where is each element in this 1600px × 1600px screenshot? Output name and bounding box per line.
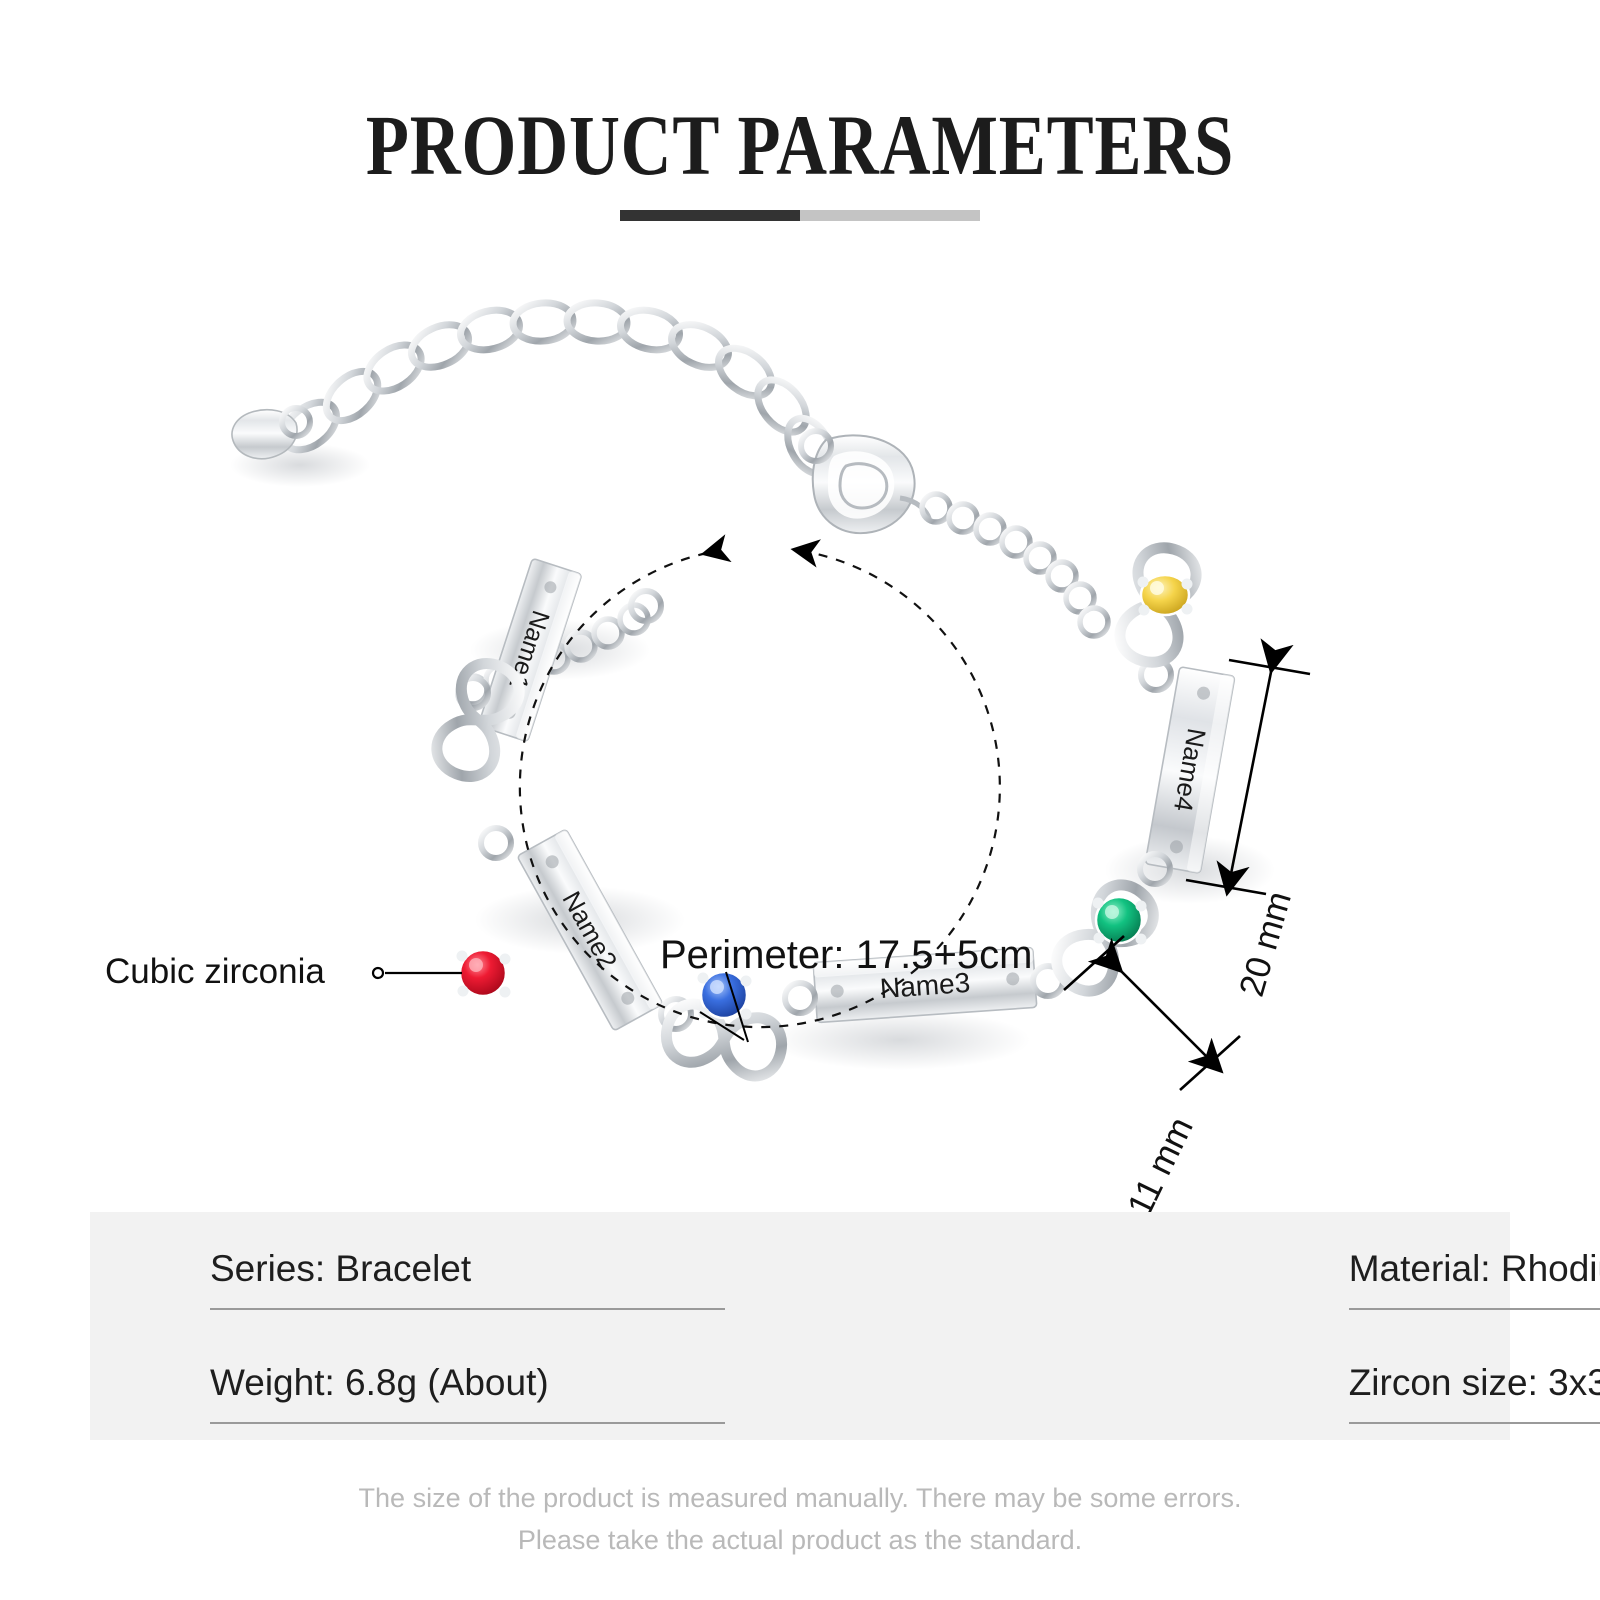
red-gem — [457, 950, 511, 998]
blue-gem — [698, 972, 752, 1020]
lobster-clasp — [801, 431, 930, 533]
spec-item-zircon-size: Zircon size: 3x3mm — [549, 1326, 1600, 1440]
spec-series-text: Series: Bracelet — [210, 1248, 471, 1290]
spec-material-text: Material: Rhodium Plated — [1349, 1248, 1600, 1290]
cubic-zirconia-label: Cubic zirconia — [105, 952, 325, 992]
cubic-zirconia-leader — [373, 968, 462, 978]
bracelet-illustration: Name1 Name2 Nam — [0, 250, 1600, 1210]
cable-chain-right — [922, 494, 1108, 636]
spec-underline — [1349, 1308, 1600, 1310]
jump-ring — [481, 828, 511, 858]
header: PRODUCT PARAMETERS — [0, 0, 1600, 250]
disclaimer-line-2: Please take the actual product as the st… — [0, 1520, 1600, 1562]
page-title: PRODUCT PARAMETERS — [144, 95, 1456, 195]
green-gem — [1093, 897, 1147, 945]
jump-ring — [785, 983, 815, 1013]
yellow-gem — [1138, 575, 1193, 616]
perimeter-label: Perimeter: 17.5+5cm — [660, 933, 1032, 978]
disclaimer-line-1: The size of the product is measured manu… — [0, 1478, 1600, 1520]
spec-weight-text: Weight: 6.8g (About) — [210, 1362, 549, 1404]
divider-light-segment — [800, 210, 980, 221]
disclaimer: The size of the product is measured manu… — [0, 1478, 1600, 1562]
title-divider — [620, 210, 980, 221]
spec-panel: Series: Bracelet Material: Rhodium Plate… — [90, 1212, 1510, 1440]
dimension-11mm — [1064, 936, 1240, 1090]
spec-item-weight: Weight: 6.8g (About) — [90, 1326, 549, 1440]
divider-dark-segment — [620, 210, 800, 221]
product-image: Name1 Name2 Nam — [0, 250, 1600, 1210]
spec-item-series: Series: Bracelet — [90, 1212, 549, 1326]
spec-zircon-size-text: Zircon size: 3x3mm — [1349, 1362, 1600, 1404]
spec-underline — [1349, 1422, 1600, 1424]
spec-item-material: Material: Rhodium Plated — [549, 1212, 1600, 1326]
